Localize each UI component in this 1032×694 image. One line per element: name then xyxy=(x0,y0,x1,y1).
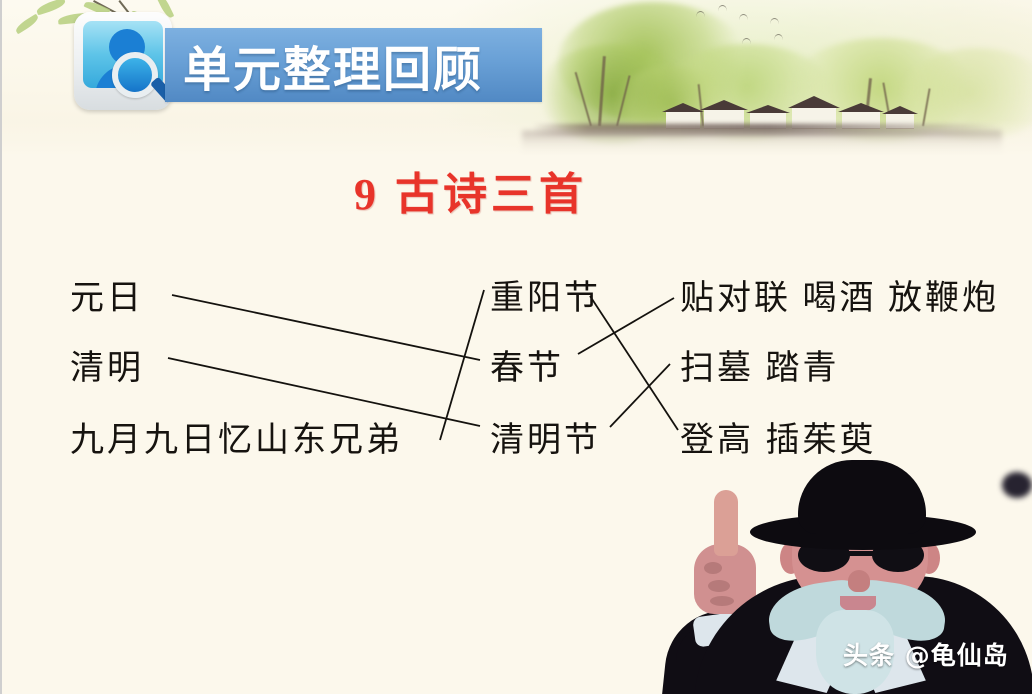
person-magnifier-icon xyxy=(74,12,172,110)
bird-icon xyxy=(718,5,727,11)
festival-item-3[interactable]: 清明节 xyxy=(490,412,601,461)
house-roof xyxy=(746,105,790,113)
figure-pointing-finger xyxy=(714,490,738,556)
bird-icon xyxy=(739,14,748,20)
title-banner: 单元整理回顾 xyxy=(165,28,542,102)
bird-icon xyxy=(742,38,751,44)
house-roof xyxy=(838,103,884,112)
header-fade-overlay xyxy=(2,120,1032,160)
figure-knuckle xyxy=(704,562,722,574)
figure-hat-dent xyxy=(1002,472,1032,498)
connection-line-3[interactable] xyxy=(440,290,484,440)
matching-exercise: 元日 清明 九月九日忆山东兄弟 重阳节 春节 清明节 贴对联 喝酒 放鞭炮 扫墓… xyxy=(2,250,1032,460)
sunglasses-bridge xyxy=(848,551,874,556)
slide-canvas: 单元整理回顾 9 古诗三首 元日 清明 九月九日忆山东兄弟 重阳节 春节 清明节… xyxy=(0,0,1032,694)
connection-line-6[interactable] xyxy=(590,296,678,430)
house-roof xyxy=(700,100,748,110)
bird-icon xyxy=(696,11,705,17)
banner-title-text: 单元整理回顾 xyxy=(183,30,483,100)
icon-magnifier-lens xyxy=(112,52,158,98)
house-roof xyxy=(882,106,918,114)
figure-knuckle xyxy=(708,580,730,592)
lesson-title: 9 古诗三首 xyxy=(354,158,587,222)
connection-line-5[interactable] xyxy=(610,364,670,427)
figure-hat-crown xyxy=(798,460,926,534)
custom-item-2[interactable]: 扫墓 踏青 xyxy=(680,340,840,389)
poem-item-1[interactable]: 元日 xyxy=(70,270,144,319)
figure-nose xyxy=(848,570,870,592)
bird-icon xyxy=(770,18,779,24)
custom-item-1[interactable]: 贴对联 喝酒 放鞭炮 xyxy=(680,270,999,319)
figure-knuckle xyxy=(710,596,734,606)
house-roof xyxy=(662,103,704,112)
connection-line-1[interactable] xyxy=(172,295,480,360)
festival-item-2[interactable]: 春节 xyxy=(490,340,564,389)
poem-item-2[interactable]: 清明 xyxy=(70,340,144,389)
bird-icon xyxy=(774,34,783,40)
house-roof xyxy=(788,96,840,108)
watermark-text: 头条 @龟仙岛 xyxy=(843,636,1009,672)
festival-item-1[interactable]: 重阳节 xyxy=(490,270,601,319)
poem-item-3[interactable]: 九月九日忆山东兄弟 xyxy=(70,412,403,461)
